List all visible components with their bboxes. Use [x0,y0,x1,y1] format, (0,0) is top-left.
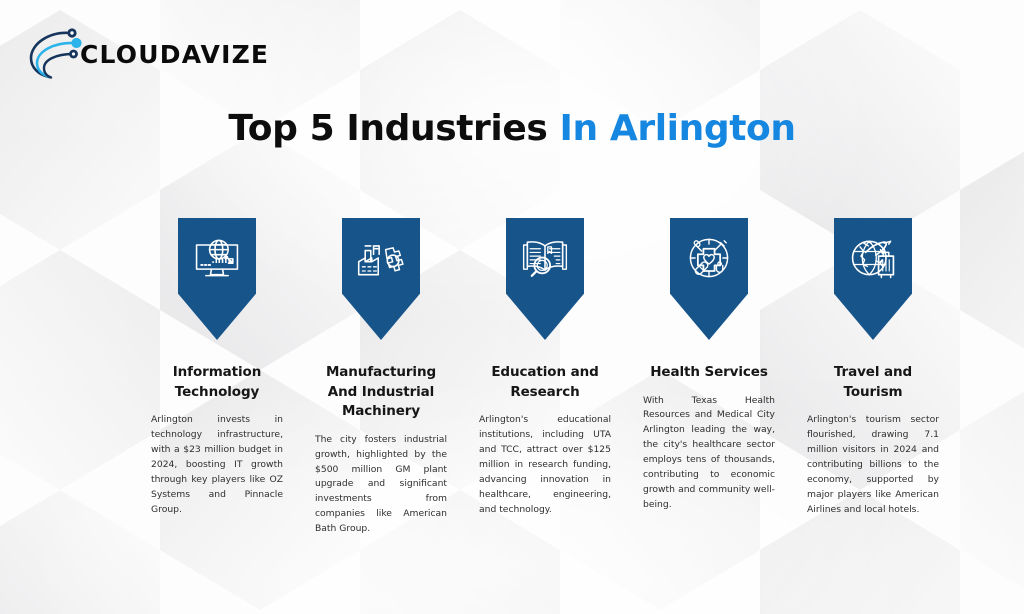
pin-badge: .info [178,218,256,340]
brand-name: CLOUDAVIZE [80,40,269,69]
pin-badge [506,218,584,340]
monitor-globe-info-icon: .info [191,232,243,284]
industry-card-education-research[interactable]: Education and Research Arlington's educa… [478,218,612,517]
brand-logo[interactable]: CLOUDAVIZE [22,22,269,86]
medical-cross-heart-icon [683,232,735,284]
globe-airplane-suitcase-icon [847,232,899,284]
svg-text:.info: .info [211,256,234,266]
card-title: Education and Research [478,363,612,402]
pin-badge [342,218,420,340]
card-title: Manufacturing And Industrial Machinery [314,363,448,422]
industry-card-information-technology[interactable]: .info Information Technology Arlington i… [150,218,284,517]
card-title: Health Services [650,363,768,383]
card-title: Information Technology [150,363,284,402]
card-body: With Texas Health Resources and Medical … [643,394,775,513]
card-body: Arlington's educational institutions, in… [479,413,611,517]
pin-badge [670,218,748,340]
industry-card-travel-tourism[interactable]: Travel and Tourism Arlington's tourism s… [806,218,940,517]
industries-card-row: .info Information Technology Arlington i… [150,218,940,537]
card-body: Arlington's tourism sector flourished, d… [807,413,939,517]
page-title-accent: In Arlington [560,108,796,149]
card-body: Arlington invests in technology infrastr… [151,413,283,517]
book-magnifier-icon [519,232,571,284]
industry-card-health-services[interactable]: Health Services With Texas Health Resour… [642,218,776,513]
card-body: The city fosters industrial growth, high… [315,433,447,537]
card-title: Travel and Tourism [806,363,940,402]
page-title: Top 5 Industries In Arlington [0,108,1024,149]
pin-badge [834,218,912,340]
infographic-canvas: CLOUDAVIZE Top 5 Industries In Arlington… [0,0,1024,614]
factory-gear-icon [355,232,407,284]
cloudavize-swoosh-logo-icon [22,23,84,85]
page-title-main: Top 5 Industries [228,108,547,149]
industry-card-manufacturing-industrial-machinery[interactable]: Manufacturing And Industrial Machinery T… [314,218,448,537]
